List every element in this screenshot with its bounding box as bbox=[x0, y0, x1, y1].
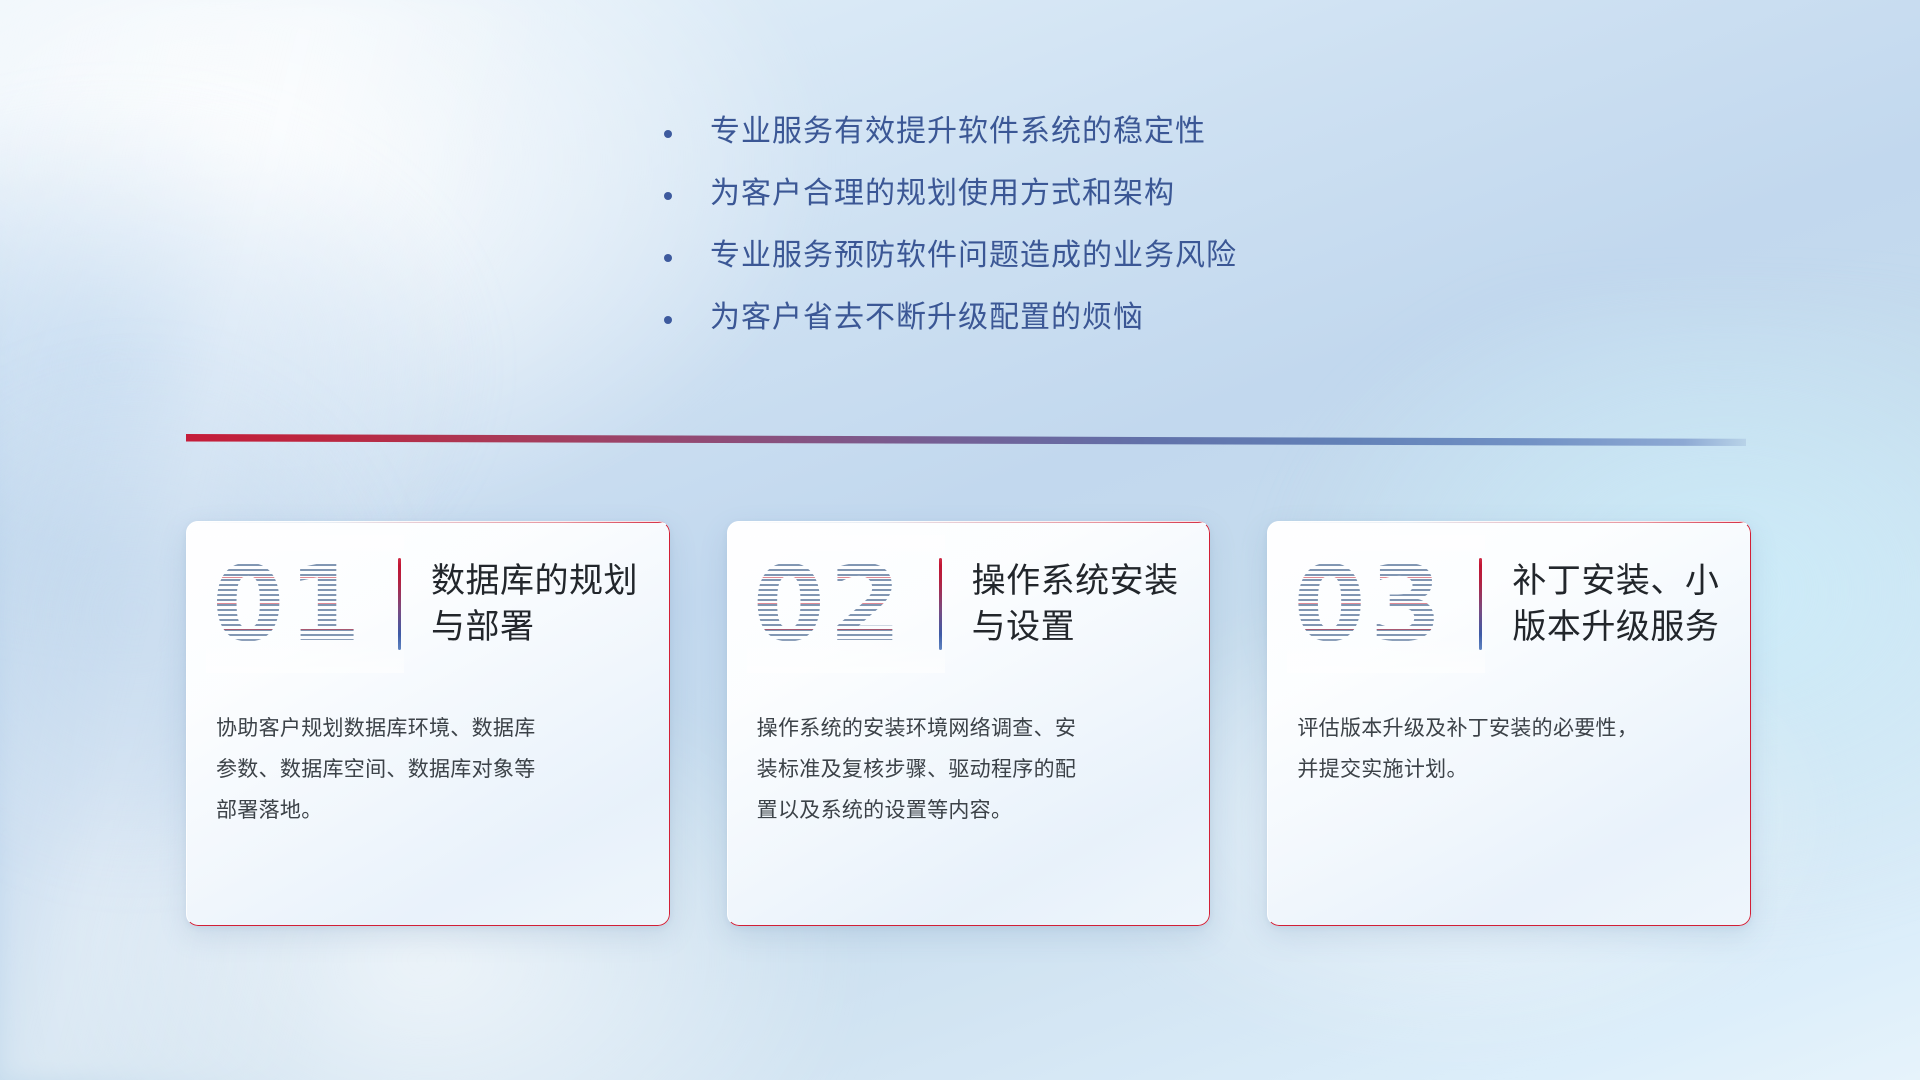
card-number-red-tint: 02 bbox=[753, 552, 906, 656]
card-body-text: 操作系统的安装环境网络调查、安 装标准及复核步骤、驱动程序的配 置以及系统的设置… bbox=[727, 686, 1211, 831]
card-number-graphic: 03 03 bbox=[1293, 545, 1479, 663]
service-card[interactable]: 01 01 数据库的规划 与部署 协助客户规划数据库环境、数据库 参数、数据库空… bbox=[186, 521, 670, 926]
card-title: 操作系统安装 与设置 bbox=[972, 558, 1179, 650]
service-card[interactable]: 03 03 补丁安装、小 版本升级服务 评估版本升级及补丁安装的必要性， 并提交… bbox=[1267, 521, 1751, 926]
service-card[interactable]: 02 02 操作系统安装 与设置 操作系统的安装环境网络调查、安 装标准及复核步… bbox=[727, 521, 1211, 926]
list-item: 为客户省去不断升级配置的烦恼 bbox=[664, 298, 1484, 338]
card-body-text: 评估版本升级及补丁安装的必要性， 并提交实施计划。 bbox=[1267, 686, 1751, 790]
card-title-divider bbox=[939, 558, 942, 650]
bullet-text: 专业服务有效提升软件系统的稳定性 bbox=[710, 112, 1206, 152]
list-item: 专业服务有效提升软件系统的稳定性 bbox=[664, 112, 1484, 152]
bullet-dot-icon bbox=[664, 316, 672, 324]
card-header: 02 02 操作系统安装 与设置 bbox=[727, 521, 1211, 686]
card-header: 03 03 补丁安装、小 版本升级服务 bbox=[1267, 521, 1751, 686]
card-body-text: 协助客户规划数据库环境、数据库 参数、数据库空间、数据库对象等 部署落地。 bbox=[186, 686, 670, 831]
card-number-red-tint: 01 bbox=[212, 552, 365, 656]
bullet-text: 专业服务预防软件问题造成的业务风险 bbox=[710, 236, 1237, 276]
bullet-dot-icon bbox=[664, 130, 672, 138]
card-title-divider bbox=[1479, 558, 1482, 650]
bullet-dot-icon bbox=[664, 192, 672, 200]
bullet-text: 为客户省去不断升级配置的烦恼 bbox=[710, 298, 1144, 338]
list-item: 为客户合理的规划使用方式和架构 bbox=[664, 174, 1484, 214]
card-number-graphic: 02 02 bbox=[753, 545, 939, 663]
service-card-group: 01 01 数据库的规划 与部署 协助客户规划数据库环境、数据库 参数、数据库空… bbox=[186, 521, 1751, 926]
card-header: 01 01 数据库的规划 与部署 bbox=[186, 521, 670, 686]
section-divider bbox=[186, 434, 1746, 446]
card-number-red-tint: 03 bbox=[1293, 552, 1446, 656]
bullet-dot-icon bbox=[664, 254, 672, 262]
divider-gradient-bar bbox=[186, 434, 1746, 446]
card-title: 补丁安装、小 版本升级服务 bbox=[1512, 558, 1719, 650]
card-title-divider bbox=[398, 558, 401, 650]
benefits-bullet-list: 专业服务有效提升软件系统的稳定性 为客户合理的规划使用方式和架构 专业服务预防软… bbox=[664, 112, 1484, 360]
list-item: 专业服务预防软件问题造成的业务风险 bbox=[664, 236, 1484, 276]
card-number-graphic: 01 01 bbox=[212, 545, 398, 663]
bullet-text: 为客户合理的规划使用方式和架构 bbox=[710, 174, 1175, 214]
card-title: 数据库的规划 与部署 bbox=[431, 558, 638, 650]
